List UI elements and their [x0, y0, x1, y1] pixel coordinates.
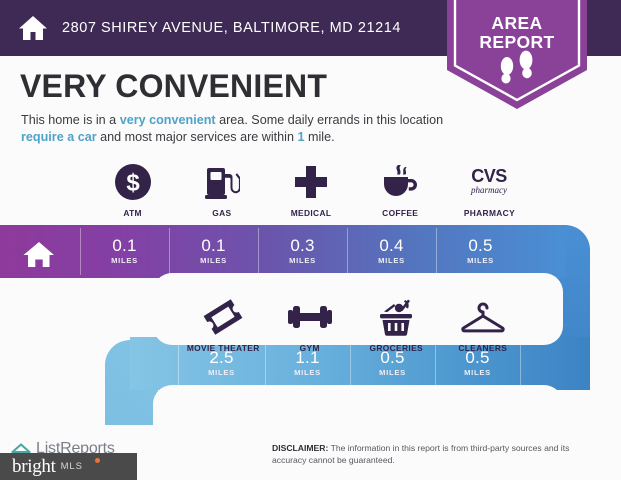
- svg-text:$: $: [126, 170, 140, 197]
- category-pharmacy: CVS pharmacy PHARMACY: [445, 162, 534, 218]
- category-label: MEDICAL: [291, 208, 332, 218]
- clothes-hanger-icon: [460, 297, 506, 337]
- badge-line-2: REPORT: [444, 33, 590, 52]
- area-report-page: 2807 SHIREY AVENUE, BALTIMORE, MD 21214 …: [0, 0, 621, 480]
- distance-unit: MILES: [265, 368, 350, 377]
- category-label: COFFEE: [382, 208, 418, 218]
- category-cleaners: CLEANERS: [440, 297, 527, 353]
- distance-unit: MILES: [258, 256, 347, 265]
- distance-cell-atm: 0.1 MILES: [80, 237, 169, 265]
- disclaimer: DISCLAIMER: The information in this repo…: [272, 443, 592, 466]
- bright-mls-badge: bright MLS: [0, 453, 137, 480]
- movie-ticket-icon: [203, 297, 243, 337]
- distance-unit: MILES: [436, 256, 525, 265]
- badge-line-1: AREA: [444, 14, 590, 33]
- coffee-cup-icon: [380, 162, 420, 202]
- gas-pump-icon: [204, 162, 240, 202]
- category-groceries: GROCERIES: [353, 297, 440, 353]
- category-label: MOVIE THEATER: [187, 343, 260, 353]
- distance-cell-medical: 0.3 MILES: [258, 237, 347, 265]
- mls-label: MLS: [61, 461, 83, 472]
- atm-dollar-icon: $: [114, 162, 152, 202]
- category-atm: $ ATM: [88, 162, 177, 218]
- intro-highlight-2: require a car: [21, 130, 97, 144]
- svg-text:CVS: CVS: [472, 166, 508, 186]
- distance-cell-movie-theater: 2.5 MILES: [178, 349, 265, 377]
- category-label: PHARMACY: [464, 208, 515, 218]
- dumbbell-icon: [288, 297, 332, 337]
- category-gas: GAS: [177, 162, 266, 218]
- intro-part-4: mile.: [305, 130, 335, 144]
- distance-value: 0.1: [80, 237, 169, 255]
- distance-unit: MILES: [347, 256, 436, 265]
- bright-wordmark: bright: [12, 456, 56, 478]
- distance-unit: MILES: [80, 256, 169, 265]
- category-label: GROCERIES: [370, 343, 423, 353]
- home-icon: [16, 11, 50, 45]
- intro-highlight-1: very convenient: [120, 113, 216, 127]
- intro-part-1: This home is in a: [21, 113, 120, 127]
- category-gym: GYM: [267, 297, 354, 353]
- category-label: GAS: [212, 208, 231, 218]
- badge-text: AREA REPORT: [444, 14, 590, 52]
- distance-value: 0.5: [436, 237, 525, 255]
- distance-unit: MILES: [350, 368, 435, 377]
- distance-value: 0.4: [347, 237, 436, 255]
- category-label: GYM: [300, 343, 320, 353]
- property-address: 2807 SHIREY AVENUE, BALTIMORE, MD 21214: [62, 20, 401, 36]
- intro-paragraph: This home is in a very convenient area. …: [21, 112, 451, 145]
- grocery-basket-icon: [376, 297, 416, 337]
- distance-cell-cleaners: 0.5 MILES: [435, 349, 520, 377]
- distance-cell-gas: 0.1 MILES: [169, 237, 258, 265]
- intro-part-3: and most major services are within: [97, 130, 298, 144]
- page-title: VERY CONVENIENT: [20, 68, 327, 105]
- intro-part-2: area. Some daily errands in this locatio…: [216, 113, 444, 127]
- distance-cell-groceries: 0.5 MILES: [350, 349, 435, 377]
- medical-cross-icon: [293, 162, 329, 202]
- category-label: CLEANERS: [458, 343, 507, 353]
- svg-text:pharmacy: pharmacy: [470, 185, 507, 195]
- distance-value: 0.3: [258, 237, 347, 255]
- disclaimer-label: DISCLAIMER:: [272, 443, 328, 453]
- distance-value: 0.1: [169, 237, 258, 255]
- area-report-badge: AREA REPORT: [444, 0, 590, 112]
- category-coffee: COFFEE: [356, 162, 445, 218]
- distance-unit: MILES: [169, 256, 258, 265]
- intro-highlight-3: 1: [297, 130, 304, 144]
- distance-cell-coffee: 0.4 MILES: [347, 237, 436, 265]
- category-icons-row-1: $ ATM GAS: [88, 162, 534, 218]
- category-label: ATM: [123, 208, 142, 218]
- category-medical: MEDICAL: [266, 162, 355, 218]
- category-icons-row-2: MOVIE THEATER GYM: [180, 297, 526, 353]
- bright-dot-icon: [95, 458, 100, 463]
- category-movie-theater: MOVIE THEATER: [180, 297, 267, 353]
- cvs-pharmacy-icon: CVS pharmacy: [457, 162, 521, 202]
- distance-unit: MILES: [178, 368, 265, 377]
- distance-cell-pharmacy: 0.5 MILES: [436, 237, 525, 265]
- distance-cell-gym: 1.1 MILES: [265, 349, 350, 377]
- distance-unit: MILES: [435, 368, 520, 377]
